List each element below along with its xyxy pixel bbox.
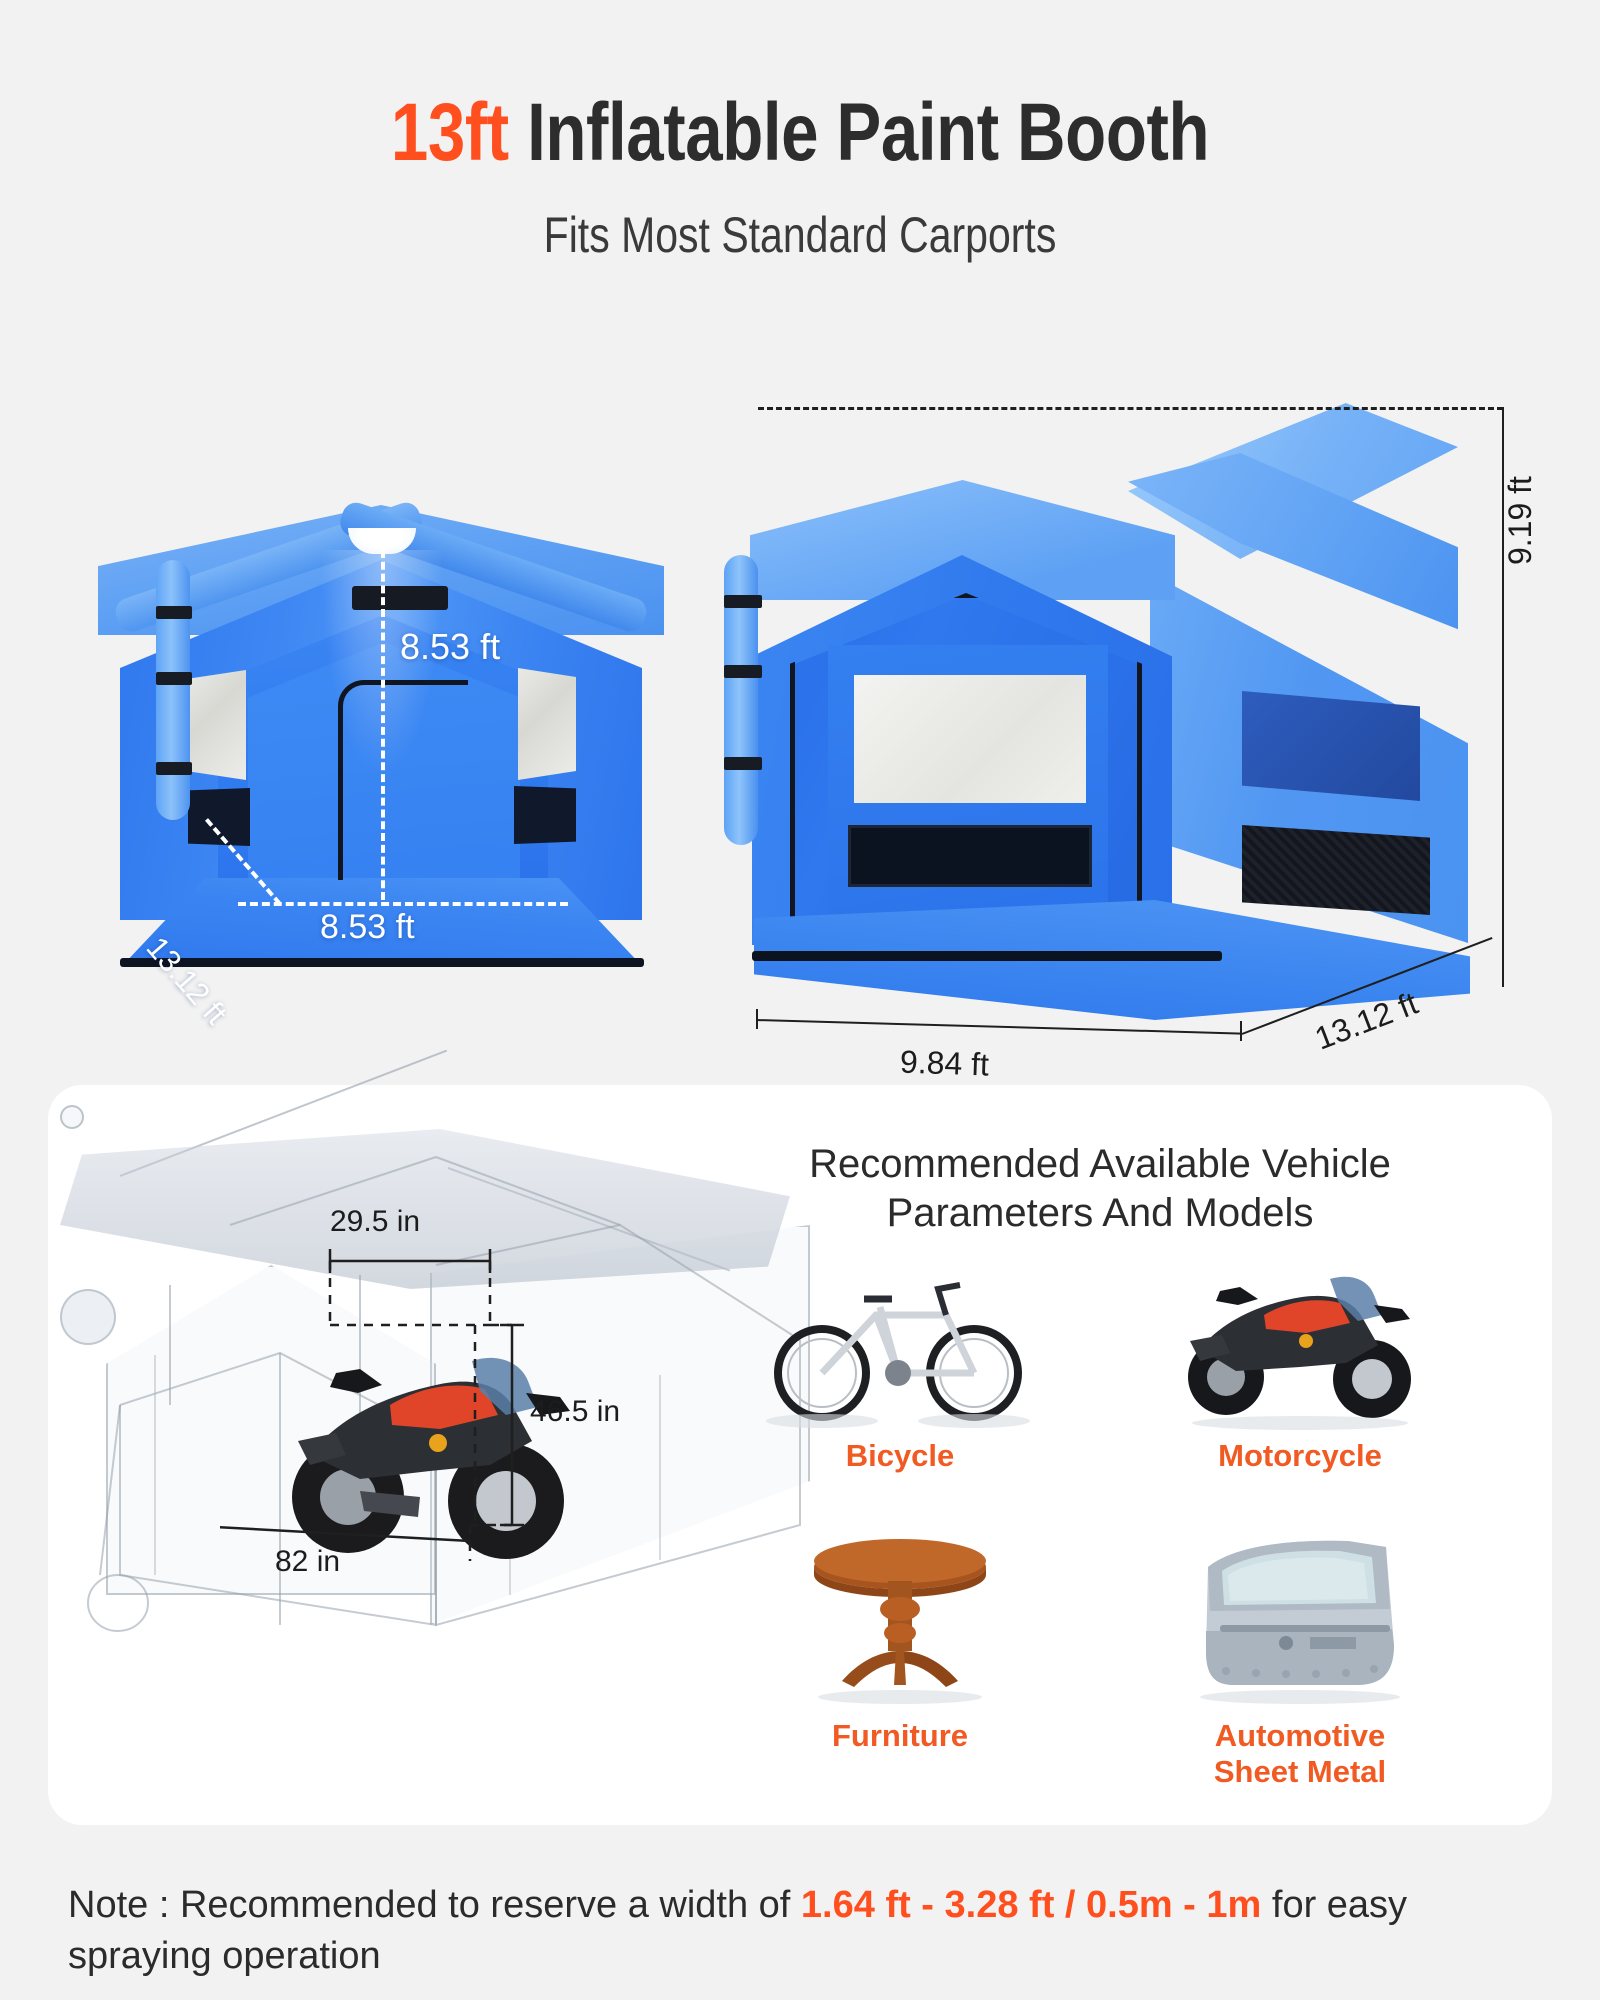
height-dimension-line: [381, 550, 385, 900]
grid-title-line2: Parameters And Models: [700, 1189, 1500, 1238]
iso-height-label: 9.19 ft: [1502, 476, 1539, 565]
vehicle-grid: Bicycle Motorcycle: [700, 1245, 1500, 1805]
note-prefix: Note : Recommended to reserve a width of: [68, 1884, 801, 1926]
iso-strap-mid: [724, 665, 762, 678]
paint-booth-iso-view: 9.19 ft 9.84 ft 13.12 ft: [730, 395, 1550, 1085]
page-title: 13ft Inflatable Paint Booth: [144, 92, 1456, 174]
iso-window-side: [1242, 691, 1420, 801]
vehicle-label-bicycle: Bicycle: [846, 1438, 955, 1474]
iso-window-white: [854, 675, 1086, 803]
vehicle-cell-sheet-metal[interactable]: AutomotiveSheet Metal: [1100, 1525, 1500, 1805]
iso-strap-bottom: [724, 757, 762, 770]
car-door-icon: [1160, 1525, 1440, 1710]
motorcycle-dimension-lines: [220, 1225, 740, 1645]
booth-side-column: [156, 560, 190, 820]
iso-filter-side: [1242, 825, 1430, 915]
page-subtitle: Fits Most Standard Carports: [144, 206, 1456, 264]
booth-strap-bottom: [156, 762, 192, 775]
note-highlight: 1.64 ft - 3.28 ft / 0.5m - 1m: [801, 1884, 1261, 1926]
vehicle-grid-title: Recommended Available Vehicle Parameters…: [700, 1140, 1500, 1238]
footer-note: Note : Recommended to reserve a width of…: [68, 1880, 1538, 1983]
vehicle-label-sheet-metal: AutomotiveSheet Metal: [1214, 1718, 1386, 1790]
iso-tick-left: [756, 1009, 758, 1029]
paint-booth-front-view: 8.53 ft 8.53 ft 13.12 ft: [70, 410, 690, 1030]
title-highlight: 13ft: [391, 87, 509, 178]
booth-window-left: [188, 670, 246, 780]
page-header: 13ft Inflatable Paint Booth Fits Most St…: [0, 0, 1600, 264]
vehicle-cell-furniture[interactable]: Furniture: [700, 1525, 1100, 1805]
grid-title-line1: Recommended Available Vehicle: [700, 1140, 1500, 1189]
booth-strap-mid: [156, 672, 192, 685]
moto-width-label: 29.5 in: [330, 1205, 420, 1239]
booth-filter-right: [514, 786, 576, 844]
booth-base-shadow: [120, 958, 644, 967]
width-dimension-line: [238, 902, 568, 906]
iso-filter-front: [848, 825, 1092, 887]
motorcycle-icon: [1160, 1245, 1440, 1430]
product-illustrations: 8.53 ft 8.53 ft 13.12 ft 9.19 ft 9.84 ft: [0, 395, 1600, 1085]
booth-window-right: [518, 668, 576, 780]
vehicle-label-motorcycle: Motorcycle: [1218, 1438, 1382, 1474]
moto-height-label: 46.5 in: [530, 1395, 620, 1429]
iso-width-label: 9.84 ft: [899, 1043, 989, 1083]
vehicle-cell-bicycle[interactable]: Bicycle: [700, 1245, 1100, 1525]
iso-base-shadow: [752, 951, 1222, 961]
iso-width-dimension-line: [756, 1019, 1242, 1035]
booth-vent-panel: [352, 586, 448, 610]
sheet-metal-line1: AutomotiveSheet Metal: [1214, 1718, 1386, 1789]
iso-tick-mid: [1240, 1021, 1242, 1041]
furniture-table-icon: [760, 1525, 1040, 1710]
booth-door-outline: [338, 680, 468, 880]
iso-strap-top: [724, 595, 762, 608]
height-dimension-label: 8.53 ft: [400, 626, 500, 668]
booth-strap-top: [156, 606, 192, 619]
title-rest: Inflatable Paint Booth: [509, 87, 1209, 178]
vehicle-cell-motorcycle[interactable]: Motorcycle: [1100, 1245, 1500, 1525]
bicycle-icon: [760, 1245, 1040, 1430]
vehicle-label-furniture: Furniture: [832, 1718, 968, 1754]
moto-length-label: 82 in: [275, 1545, 340, 1579]
iso-top-dimension-line: [758, 407, 1503, 410]
width-dimension-label: 8.53 ft: [320, 908, 415, 947]
